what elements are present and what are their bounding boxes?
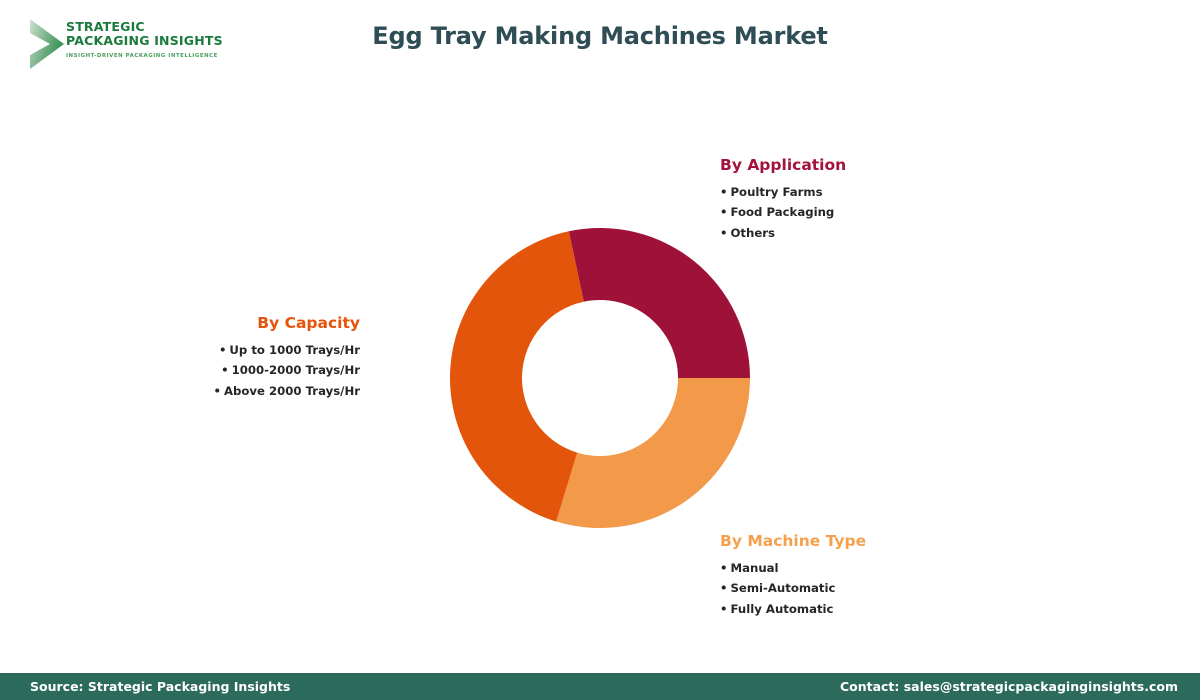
bullet-icon: •	[720, 578, 727, 598]
list-item: •Others	[720, 223, 846, 243]
logo-tagline: INSIGHT-DRIVEN PACKAGING INTELLIGENCE	[66, 53, 223, 59]
donut-segment	[450, 231, 584, 521]
list-item-label: 1000-2000 Trays/Hr	[232, 363, 360, 377]
list-item: •Semi-Automatic	[720, 578, 866, 598]
donut-segment	[569, 228, 750, 378]
list-item-label: Above 2000 Trays/Hr	[224, 384, 360, 398]
list-item-label: Semi-Automatic	[730, 581, 835, 595]
bullet-icon: •	[221, 360, 228, 380]
callout-capacity-list: •Up to 1000 Trays/Hr •1000-2000 Trays/Hr…	[120, 340, 360, 401]
list-item: •Above 2000 Trays/Hr	[120, 381, 360, 401]
list-item-label: Food Packaging	[730, 205, 834, 219]
list-item: •Poultry Farms	[720, 182, 846, 202]
bullet-icon: •	[720, 202, 727, 222]
bullet-icon: •	[213, 381, 220, 401]
callout-machine-title: By Machine Type	[720, 532, 866, 551]
callout-by-capacity: By Capacity •Up to 1000 Trays/Hr •1000-2…	[120, 314, 360, 401]
donut-segment-group	[450, 228, 750, 528]
bullet-icon: •	[720, 223, 727, 243]
footer-source-text: Source: Strategic Packaging Insights	[30, 679, 290, 694]
list-item: •1000-2000 Trays/Hr	[120, 360, 360, 380]
bullet-icon: •	[720, 599, 727, 619]
callout-capacity-title: By Capacity	[120, 314, 360, 333]
footer-bar: Source: Strategic Packaging Insights Con…	[0, 673, 1200, 700]
list-item-label: Others	[730, 226, 775, 240]
callout-by-machine-type: By Machine Type •Manual •Semi-Automatic …	[720, 532, 866, 619]
list-item-label: Fully Automatic	[730, 602, 833, 616]
donut-chart	[450, 228, 750, 528]
list-item-label: Manual	[730, 561, 778, 575]
list-item: •Manual	[720, 558, 866, 578]
callout-by-application: By Application •Poultry Farms •Food Pack…	[720, 156, 846, 243]
list-item-label: Up to 1000 Trays/Hr	[229, 343, 360, 357]
bullet-icon: •	[720, 558, 727, 578]
footer-contact-text[interactable]: Contact: sales@strategicpackaginginsight…	[840, 679, 1178, 694]
donut-segment	[556, 378, 750, 528]
bullet-icon: •	[720, 182, 727, 202]
list-item: •Up to 1000 Trays/Hr	[120, 340, 360, 360]
bullet-icon: •	[219, 340, 226, 360]
donut-chart-svg	[450, 228, 750, 528]
list-item: •Fully Automatic	[720, 599, 866, 619]
callout-application-list: •Poultry Farms •Food Packaging •Others	[720, 182, 846, 243]
page-title: Egg Tray Making Machines Market	[0, 22, 1200, 50]
list-item: •Food Packaging	[720, 202, 846, 222]
list-item-label: Poultry Farms	[730, 185, 822, 199]
infographic-canvas: STRATEGIC PACKAGING INSIGHTS INSIGHT-DRI…	[0, 0, 1200, 700]
callout-machine-list: •Manual •Semi-Automatic •Fully Automatic	[720, 558, 866, 619]
callout-application-title: By Application	[720, 156, 846, 175]
